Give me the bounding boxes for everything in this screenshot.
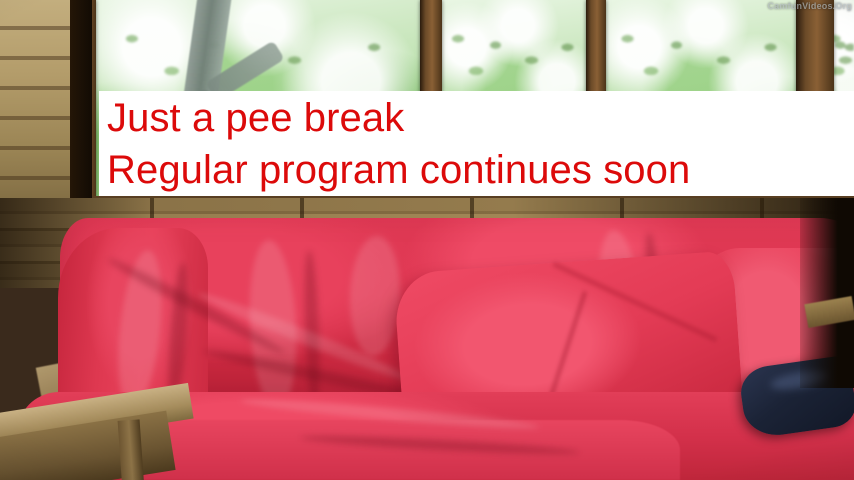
couch-seat-fold	[120, 420, 680, 480]
right-shadow	[800, 198, 854, 388]
banner-line-2: Regular program continues soon	[107, 144, 854, 196]
video-frame: Just a pee break Regular program continu…	[0, 0, 854, 480]
banner-line-1: Just a pee break	[107, 92, 854, 144]
background-scene	[0, 0, 854, 480]
couch	[0, 0, 854, 480]
site-watermark: CamfunVideos.Org	[767, 1, 852, 12]
announcement-banner: Just a pee break Regular program continu…	[99, 91, 854, 196]
